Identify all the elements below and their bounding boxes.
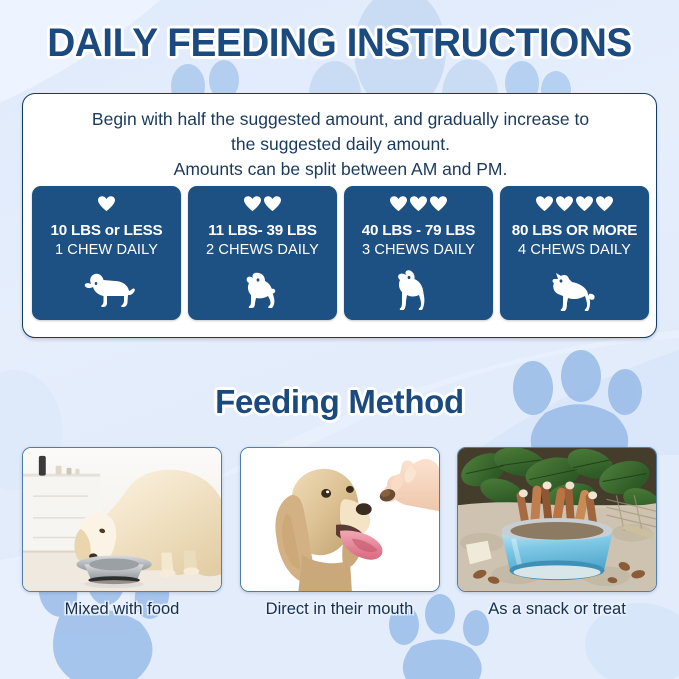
feeding-method-item[interactable]: As a snack or treat bbox=[457, 447, 657, 619]
heart-icon bbox=[264, 196, 281, 212]
feeding-method-row: Mixed with food bbox=[22, 447, 657, 619]
hand-offering-treat-to-spaniel-photo bbox=[240, 447, 440, 592]
instruction-panel: Begin with half the suggested amount, an… bbox=[22, 93, 657, 338]
heart-icon bbox=[390, 196, 407, 212]
feeding-method-title: Feeding Method bbox=[0, 383, 679, 421]
xlarge-dog-icon bbox=[500, 272, 649, 314]
medium-dog-icon bbox=[188, 272, 337, 314]
weight-label: 40 LBS - 79 LBS bbox=[362, 222, 475, 239]
heart-rating-1 bbox=[98, 195, 115, 213]
golden-retriever-eating-from-bowl-photo bbox=[22, 447, 222, 592]
heart-rating-4 bbox=[536, 195, 613, 213]
feeding-method-item[interactable]: Direct in their mouth bbox=[240, 447, 440, 619]
heart-rating-2 bbox=[244, 195, 281, 213]
heart-icon bbox=[410, 196, 427, 212]
method-caption: Mixed with food bbox=[65, 600, 180, 619]
heart-icon bbox=[98, 196, 115, 212]
instruction-line-1: Begin with half the suggested amount, an… bbox=[39, 107, 642, 132]
heart-icon bbox=[556, 196, 573, 212]
heart-rating-3 bbox=[390, 195, 447, 213]
blue-bowl-with-chew-treats-photo bbox=[457, 447, 657, 592]
heart-icon bbox=[596, 196, 613, 212]
method-caption: Direct in their mouth bbox=[266, 600, 414, 619]
dose-label: 4 CHEWS DAILY bbox=[518, 242, 631, 258]
weight-card[interactable]: 80 LBS OR MORE 4 CHEWS DAILY bbox=[500, 186, 649, 320]
weight-card[interactable]: 10 LBS or LESS 1 CHEW DAILY bbox=[32, 186, 181, 320]
weight-label: 10 LBS or LESS bbox=[51, 222, 163, 239]
weight-cards-row: 10 LBS or LESS 1 CHEW DAILY 11 LBS- 39 L… bbox=[32, 186, 649, 320]
heart-icon bbox=[244, 196, 261, 212]
dose-label: 2 CHEWS DAILY bbox=[206, 242, 319, 258]
heart-icon bbox=[430, 196, 447, 212]
large-dog-icon bbox=[344, 270, 493, 314]
heart-icon bbox=[536, 196, 553, 212]
dose-label: 1 CHEW DAILY bbox=[55, 242, 158, 258]
weight-label: 11 LBS- 39 LBS bbox=[208, 222, 317, 239]
method-caption: As a snack or treat bbox=[488, 600, 626, 619]
instruction-text: Begin with half the suggested amount, an… bbox=[39, 107, 642, 182]
page-title: DAILY FEEDING INSTRUCTIONS bbox=[10, 21, 669, 66]
dose-label: 3 CHEWS DAILY bbox=[362, 242, 475, 258]
small-dog-icon bbox=[32, 272, 181, 314]
instruction-line-2: the suggested daily amount. bbox=[39, 132, 642, 157]
weight-card[interactable]: 11 LBS- 39 LBS 2 CHEWS DAILY bbox=[188, 186, 337, 320]
heart-icon bbox=[576, 196, 593, 212]
instruction-line-3: Amounts can be split between AM and PM. bbox=[39, 157, 642, 182]
feeding-method-item[interactable]: Mixed with food bbox=[22, 447, 222, 619]
weight-card[interactable]: 40 LBS - 79 LBS 3 CHEWS DAILY bbox=[344, 186, 493, 320]
weight-label: 80 LBS OR MORE bbox=[512, 222, 637, 239]
